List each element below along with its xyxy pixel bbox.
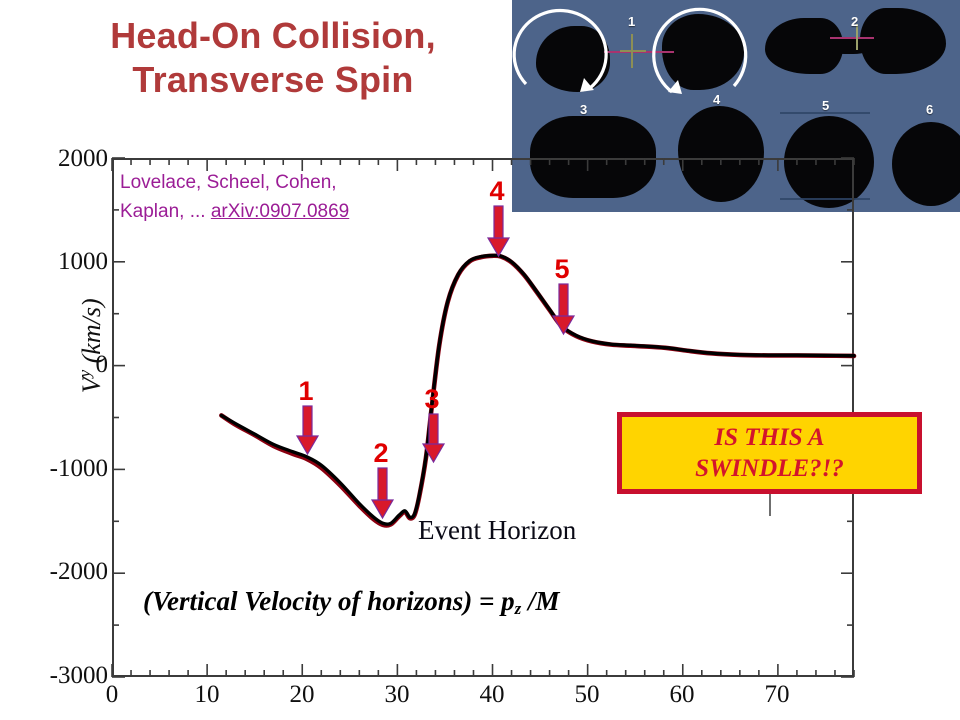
- y-axis-title: Vy (km/s): [75, 241, 107, 451]
- annotation-2-label: 2: [368, 440, 394, 467]
- velocity-formula: (Vertical Velocity of horizons) = pz /M: [143, 586, 560, 619]
- page-title: Head-On Collision, Transverse Spin: [48, 14, 498, 102]
- formula-suffix: /M: [521, 586, 559, 616]
- y-tick-2000: 2000: [58, 145, 108, 173]
- x-tick-30: 30: [367, 681, 427, 709]
- down-arrow-icon: [295, 406, 321, 456]
- arxiv-link[interactable]: arXiv:0907.0869: [211, 201, 349, 222]
- formula-main: (Vertical Velocity of horizons) = p: [143, 586, 515, 616]
- citation: Lovelace, Scheel, Cohen, Kaplan, ... arX…: [120, 168, 450, 226]
- callout-leader-line: [769, 494, 771, 516]
- citation-authors-cont: Kaplan, ...: [120, 201, 211, 222]
- x-tick-70: 70: [747, 681, 807, 709]
- down-arrow-icon: [421, 414, 447, 464]
- x-tick-10: 10: [177, 681, 237, 709]
- event-horizon-label: Event Horizon: [418, 515, 576, 546]
- callout-line-2: SWINDLE?!?: [695, 453, 844, 484]
- slide-canvas: Head-On Collision, Transverse Spin 1 2 3…: [0, 0, 960, 720]
- annotation-4-label: 4: [484, 178, 510, 205]
- swindle-callout[interactable]: IS THIS A SWINDLE?!?: [617, 412, 922, 494]
- title-line-1: Head-On Collision,: [110, 15, 436, 56]
- x-tick-60: 60: [652, 681, 712, 709]
- y-tick-m1000: -1000: [50, 455, 108, 483]
- x-tick-0: 0: [82, 681, 142, 709]
- annotation-3-label: 3: [419, 386, 445, 413]
- annotation-5-label: 5: [549, 256, 575, 283]
- callout-text: IS THIS A SWINDLE?!?: [695, 422, 844, 484]
- citation-line-1: Lovelace, Scheel, Cohen,: [120, 168, 450, 197]
- annotation-1-label: 1: [293, 378, 319, 405]
- down-arrow-icon: [486, 206, 512, 258]
- citation-line-2: Kaplan, ... arXiv:0907.0869: [120, 197, 450, 226]
- callout-line-1: IS THIS A: [695, 422, 844, 453]
- x-tick-20: 20: [272, 681, 332, 709]
- y-tick-m2000: -2000: [50, 558, 108, 586]
- x-tick-40: 40: [462, 681, 522, 709]
- down-arrow-icon: [370, 468, 396, 520]
- title-line-2: Transverse Spin: [48, 58, 498, 102]
- x-tick-50: 50: [557, 681, 617, 709]
- down-arrow-icon: [551, 284, 577, 336]
